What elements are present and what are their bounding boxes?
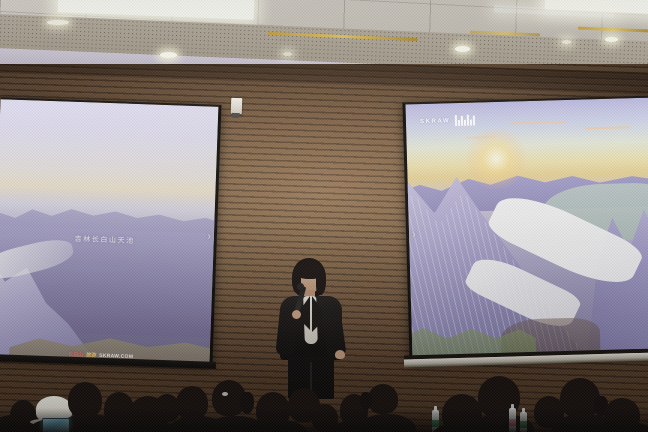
wall-mounted-speaker-icon	[231, 98, 243, 114]
skraw-wordmark: SKRAW	[420, 118, 450, 125]
left-projection-screen[interactable]: 吉林长白山天池 长白山 旅游 SKRAW.COM ›	[0, 97, 221, 366]
right-slide-logo: SKRAW	[420, 115, 476, 128]
ceiling	[0, 0, 648, 72]
downlight-3	[562, 40, 571, 44]
downlight-5	[283, 52, 292, 56]
audience-shadow-gradient	[0, 408, 648, 432]
presenter-hand-right	[335, 350, 345, 359]
lecture-hall-photo: 吉林长白山天池 长白山 旅游 SKRAW.COM › SKRAW ›	[0, 0, 648, 432]
downlight-1	[160, 52, 177, 58]
right-projection-screen[interactable]: SKRAW ›	[402, 96, 648, 364]
presenter-hand-left	[292, 310, 301, 319]
left-slide-caption: 吉林长白山天池	[74, 234, 135, 246]
chevron-right-icon[interactable]: ›	[412, 229, 416, 241]
hair-tie	[222, 392, 228, 396]
presenter-hair-right	[316, 267, 326, 295]
chevron-right-icon[interactable]: ›	[207, 231, 211, 243]
downlight-4	[605, 37, 618, 42]
downlight-6	[47, 20, 69, 25]
left-projector-haze	[0, 99, 218, 365]
downlight-2	[455, 46, 470, 52]
bilibili-logo-icon	[455, 115, 475, 127]
sunrise-glow	[465, 128, 527, 190]
seated-audience	[0, 368, 648, 432]
